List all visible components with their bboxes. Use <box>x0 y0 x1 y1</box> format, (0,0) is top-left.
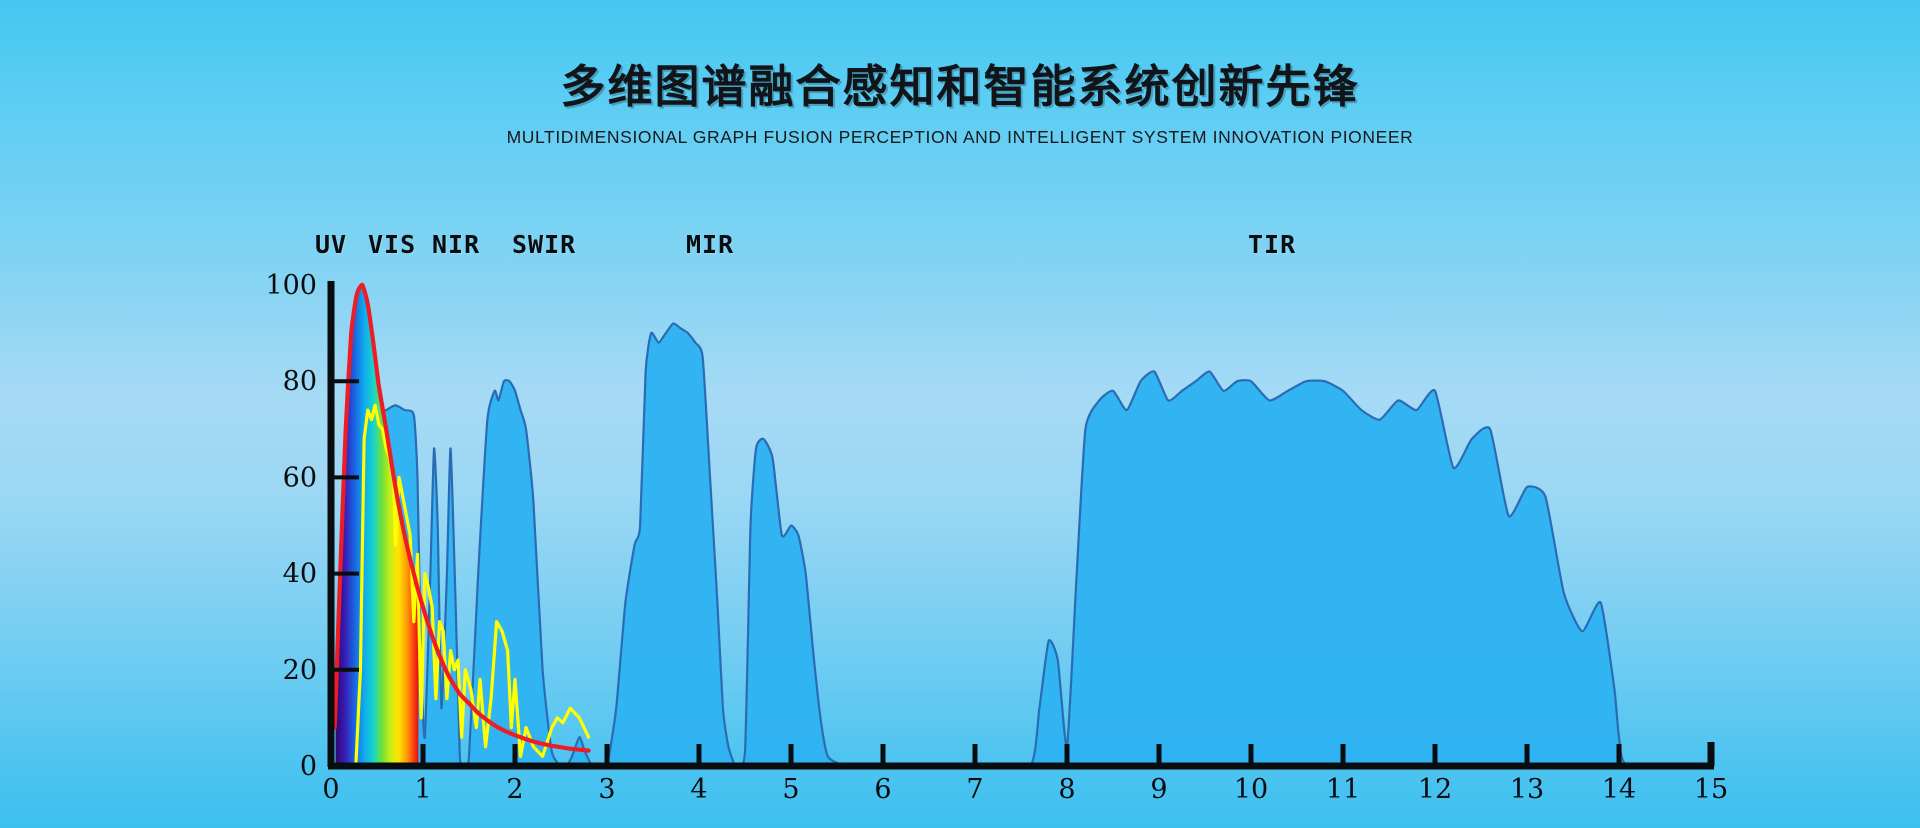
y-tick-label: 20 <box>283 655 317 686</box>
x-tick-labels: 0123456789101112131415 <box>322 774 1728 805</box>
x-tick-label: 13 <box>1510 774 1544 805</box>
x-tick-label: 15 <box>1694 774 1728 805</box>
x-tick-label: 11 <box>1326 774 1360 805</box>
x-tick-label: 7 <box>966 774 983 805</box>
transmission-area <box>331 323 1711 773</box>
x-tick-label: 5 <box>782 774 799 805</box>
x-tick-label: 12 <box>1418 774 1452 805</box>
x-tick-label: 10 <box>1234 774 1268 805</box>
y-tick-label: 80 <box>283 366 317 397</box>
x-tick-label: 8 <box>1058 774 1075 805</box>
y-tick-labels: 020406080100 <box>265 270 317 782</box>
x-tick-label: 1 <box>414 774 431 805</box>
x-tick-label: 0 <box>322 774 339 805</box>
x-tick-label: 9 <box>1150 774 1167 805</box>
y-tick-label: 40 <box>283 559 317 590</box>
y-tick-label: 100 <box>265 270 317 301</box>
poster-stage: 多维图谱融合感知和智能系统创新先锋 MULTIDIMENSIONAL GRAPH… <box>0 0 1920 828</box>
x-tick-label: 6 <box>874 774 891 805</box>
x-tick-label: 14 <box>1602 774 1636 805</box>
y-tick-label: 0 <box>300 751 317 782</box>
x-tick-label: 3 <box>598 774 615 805</box>
x-tick-label: 4 <box>690 774 707 805</box>
x-tick-label: 2 <box>506 774 523 805</box>
transmission-area-group <box>331 323 1711 773</box>
spectrum-chart: 020406080100 0123456789101112131415 <box>0 0 1920 828</box>
y-tick-label: 60 <box>283 462 317 493</box>
